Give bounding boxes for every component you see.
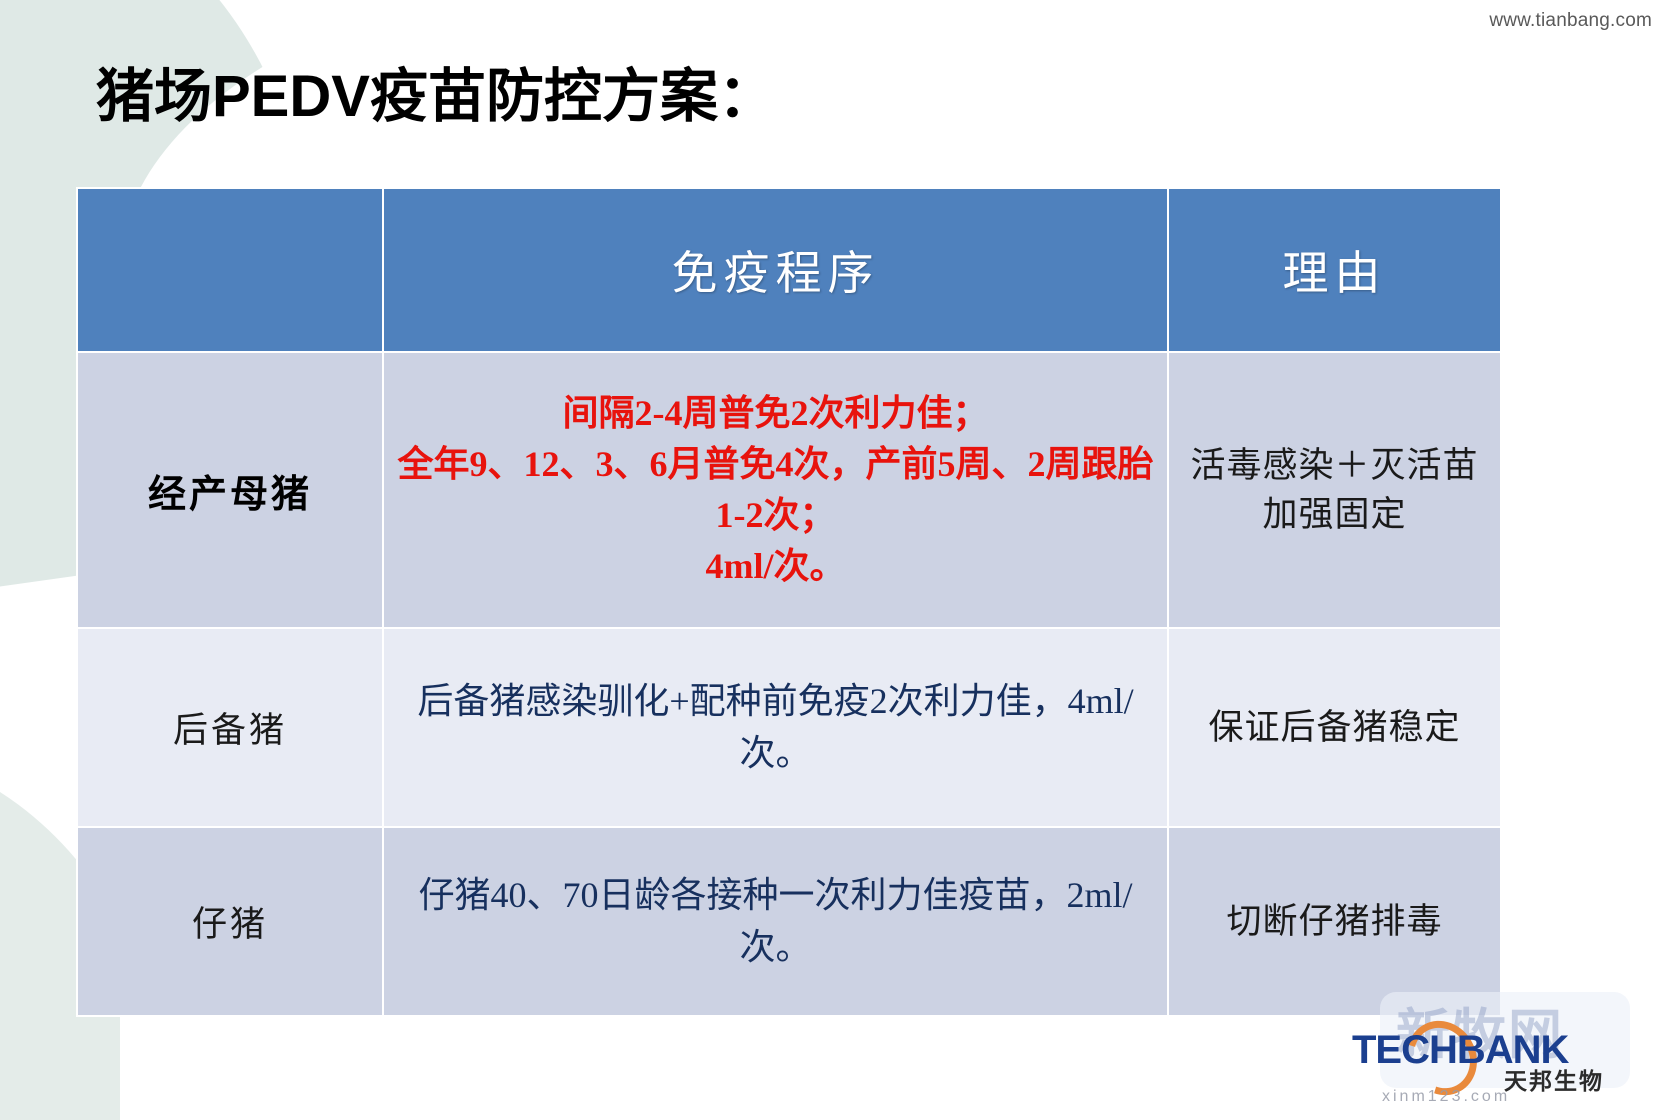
cell-reason-gilt: 保证后备猪稳定 [1168,628,1501,827]
cell-reason-piglet: 切断仔猪排毒 [1168,827,1501,1016]
logo-chinese-name: 天邦生物 [1504,1062,1604,1096]
cell-program-piglet: 仔猪40、70日龄各接种一次利力佳疫苗，2ml/次。 [383,827,1168,1016]
site-url: www.tianbang.com [1489,10,1652,32]
watermark-url: xinm123.com [1382,1088,1510,1106]
page-title: 猪场PEDV疫苗防控方案： [96,65,776,129]
cell-category-sow: 经产母猪 [77,352,383,628]
cell-reason-sow: 活毒感染＋灭活苗加强固定 [1168,352,1501,628]
table-header: 免疫程序 理由 [77,188,1501,352]
cell-category-piglet: 仔猪 [77,827,383,1016]
column-header-reason: 理由 [1168,188,1501,352]
table-body: 经产母猪 间隔2-4周普免2次利力佳； 全年9、12、3、6月普免4次，产前5周… [77,352,1501,1016]
table-row: 经产母猪 间隔2-4周普免2次利力佳； 全年9、12、3、6月普免4次，产前5周… [77,352,1501,628]
cell-program-gilt: 后备猪感染驯化+配种前免疫2次利力佳，4ml/次。 [383,628,1168,827]
table-header-row: 免疫程序 理由 [77,188,1501,352]
column-header-category [77,188,383,352]
logo-techbank-text: TECHBANK [1352,1028,1568,1073]
table-row: 仔猪 仔猪40、70日龄各接种一次利力佳疫苗，2ml/次。 切断仔猪排毒 [77,827,1501,1016]
logo-swoosh-icon [1394,1008,1490,1107]
cell-category-gilt: 后备猪 [77,628,383,827]
cell-program-sow: 间隔2-4周普免2次利力佳； 全年9、12、3、6月普免4次，产前5周、2周跟胎… [383,352,1168,628]
vaccination-plan-table: 免疫程序 理由 经产母猪 间隔2-4周普免2次利力佳； 全年9、12、3、6月普… [76,187,1502,1017]
column-header-program: 免疫程序 [383,188,1168,352]
vaccination-plan-table-wrapper: 免疫程序 理由 经产母猪 间隔2-4周普免2次利力佳； 全年9、12、3、6月普… [76,187,1500,1017]
table-row: 后备猪 后备猪感染驯化+配种前免疫2次利力佳，4ml/次。 保证后备猪稳定 [77,628,1501,827]
